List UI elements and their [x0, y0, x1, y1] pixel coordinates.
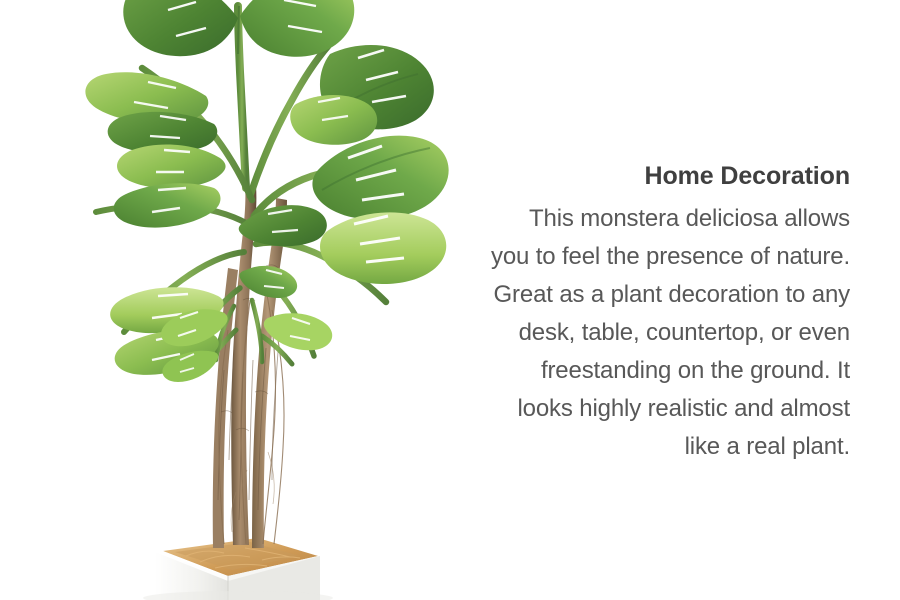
monstera-plant-photo	[0, 0, 450, 600]
product-banner: Home Decoration This monstera deliciosa …	[0, 0, 900, 600]
description-line: freestanding on the ground. It	[410, 352, 850, 390]
product-description: This monstera deliciosa allows you to fe…	[410, 200, 850, 466]
description-line: desk, table, countertop, or even	[410, 314, 850, 352]
leaf-right-upper-small	[290, 95, 377, 145]
leaf-top-crown	[123, 0, 354, 57]
description-line: looks highly realistic and almost	[410, 390, 850, 428]
plant-illustration	[0, 0, 450, 600]
description-line: Great as a plant decoration to any	[410, 276, 850, 314]
leaf-left-mid	[117, 144, 226, 188]
page-title: Home Decoration	[410, 160, 850, 192]
description-line: This monstera deliciosa allows	[410, 200, 850, 238]
leaf-left-mid-2	[114, 183, 221, 227]
description-line: like a real plant.	[410, 428, 850, 466]
planter-pot	[155, 538, 320, 600]
description-line: you to feel the presence of nature.	[410, 238, 850, 276]
copy-block: Home Decoration This monstera deliciosa …	[410, 160, 850, 466]
